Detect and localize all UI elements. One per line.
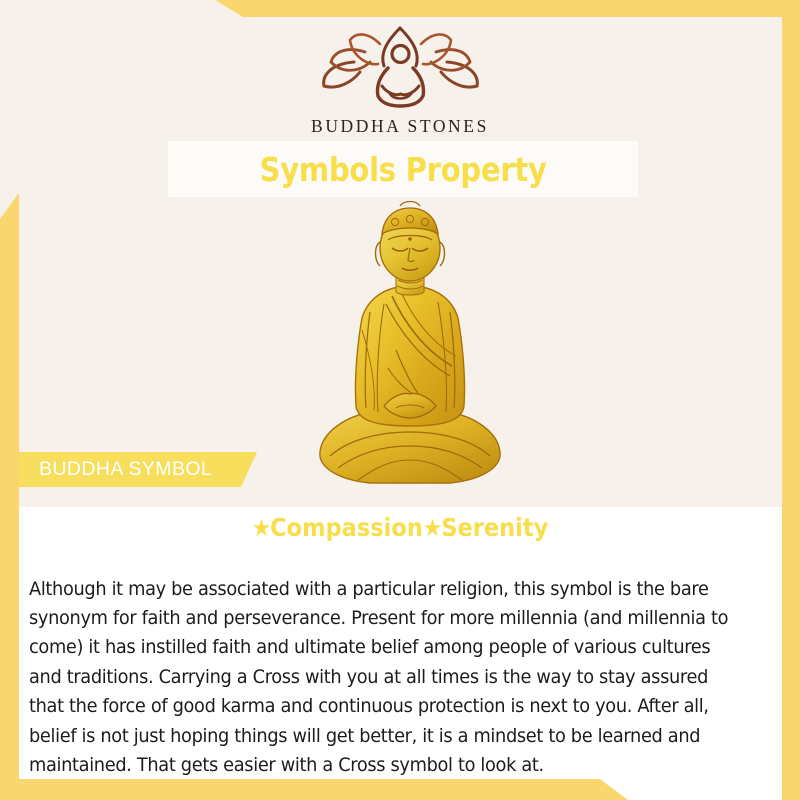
golden-seated-buddha-icon xyxy=(300,200,520,500)
star-icon-left: ★ xyxy=(252,514,270,542)
section-ribbon-label: BUDDHA SYMBOL xyxy=(19,458,212,481)
subtitle-word-serenity: Serenity xyxy=(441,513,548,542)
page-title: Symbols Property xyxy=(259,150,546,189)
decorative-accent-bottom xyxy=(0,779,640,800)
decorative-accent-left xyxy=(0,193,19,800)
star-icon-middle: ★ xyxy=(423,514,441,542)
subtitle-word-compassion: Compassion xyxy=(270,513,423,542)
title-banner: Symbols Property xyxy=(168,141,638,197)
buddha-illustration xyxy=(300,200,520,500)
section-subtitle: ★Compassion★Serenity xyxy=(40,513,760,542)
brand-logo: BUDDHA STONES xyxy=(0,24,800,137)
brand-wordmark: BUDDHA STONES xyxy=(0,116,800,137)
section-body-text: Although it may be associated with a par… xyxy=(29,575,738,781)
infographic-page: BUDDHA STONES Symbols Property xyxy=(0,0,800,800)
section-ribbon: BUDDHA SYMBOL xyxy=(19,452,257,487)
lotus-meditation-figure-icon xyxy=(318,24,483,110)
